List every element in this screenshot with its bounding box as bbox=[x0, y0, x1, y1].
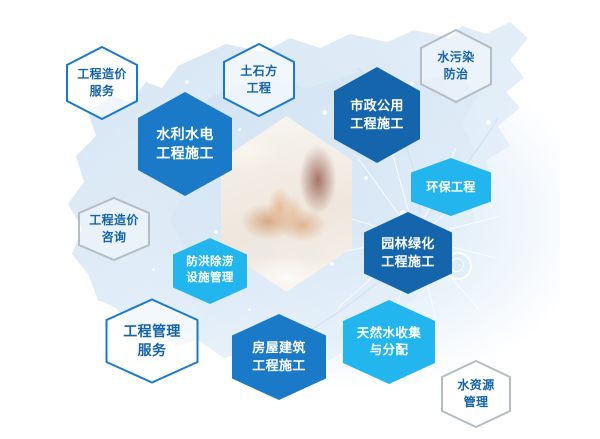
hex-water-pollution-control[interactable]: 水污染 防治 bbox=[420, 29, 492, 103]
hex-label: 工程造价 咨询 bbox=[89, 212, 139, 245]
hex-flood-drainage-facility-management[interactable]: 防洪除涝 设施管理 bbox=[173, 238, 247, 304]
hex-earthwork-engineering[interactable]: 土石方 工程 bbox=[223, 43, 295, 117]
hex-landscaping-engineering[interactable]: 园林绿化 工程施工 bbox=[364, 212, 452, 294]
sparkle-dot bbox=[486, 120, 491, 125]
hex-environmental-protection-engineering[interactable]: 环保工程 bbox=[411, 158, 491, 216]
hex-label: 工程造价 服务 bbox=[77, 66, 127, 99]
hex-label: 防洪除涝 设施管理 bbox=[186, 255, 234, 287]
hex-label: 天然水收集 与分配 bbox=[357, 325, 422, 360]
hex-municipal-public-engineering[interactable]: 市政公用 工程施工 bbox=[334, 67, 420, 163]
hex-label: 房屋建筑 工程施工 bbox=[252, 339, 306, 375]
hex-engineering-cost-consulting[interactable]: 工程造价 咨询 bbox=[78, 197, 150, 261]
hex-natural-water-collection-distribution[interactable]: 天然水收集 与分配 bbox=[343, 300, 435, 384]
hex-water-conservancy-hydropower[interactable]: 水利水电 工程施工 bbox=[138, 92, 232, 196]
sparkle-dot bbox=[322, 110, 327, 115]
hex-label: 园林绿化 工程施工 bbox=[381, 235, 435, 271]
hex-label: 环保工程 bbox=[426, 179, 476, 196]
sparkle-dot bbox=[152, 268, 155, 271]
infographic-canvas: 工程造价 服务 土石方 工程 水污染 防治 市政公用 工程施工 水利水电 工程施… bbox=[0, 0, 600, 439]
sparkle-dot bbox=[185, 80, 189, 84]
network-node-ring-inner bbox=[450, 258, 464, 272]
sparkle-dot bbox=[214, 230, 218, 234]
hex-label: 市政公用 工程施工 bbox=[350, 97, 404, 133]
hex-label: 水污染 防治 bbox=[437, 49, 474, 82]
sparkle-dot bbox=[364, 176, 368, 180]
hex-water-resource-management[interactable]: 水资源 管理 bbox=[441, 360, 511, 428]
hex-label: 土石方 工程 bbox=[240, 63, 277, 96]
hex-label: 水资源 管理 bbox=[457, 377, 494, 410]
hex-label: 工程管理 服务 bbox=[123, 322, 181, 361]
sparkle-dot bbox=[248, 308, 251, 311]
hex-label: 水利水电 工程施工 bbox=[156, 125, 214, 164]
hex-engineering-cost-service[interactable]: 工程造价 服务 bbox=[66, 46, 138, 120]
hex-engineering-management-service[interactable]: 工程管理 服务 bbox=[105, 298, 199, 384]
hex-building-construction-engineering[interactable]: 房屋建筑 工程施工 bbox=[232, 314, 326, 400]
